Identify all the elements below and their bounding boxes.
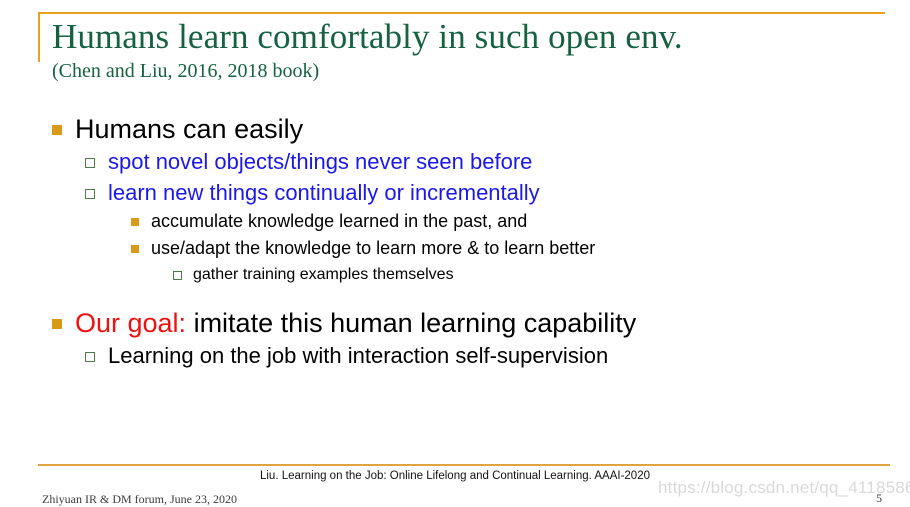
- top-gold-rule: [38, 12, 885, 14]
- our-goal-label: Our goal:: [75, 308, 186, 338]
- hollow-square-bullet-icon: [85, 189, 95, 199]
- bullet-level2-learning-on-the-job: Learning on the job with interaction sel…: [40, 340, 890, 371]
- square-bullet-icon: [52, 319, 62, 329]
- bullet-level3-use-adapt-knowledge: use/adapt the knowledge to learn more & …: [40, 235, 890, 262]
- bullet-level2-learn-new-things: learn new things continually or incremen…: [40, 177, 890, 208]
- hollow-square-bullet-icon: [85, 352, 95, 362]
- watermark-text: https://blog.csdn.net/qq_41185868: [658, 478, 910, 498]
- bullet-text: learn new things continually or incremen…: [108, 177, 540, 208]
- bullet-list: Humans can easily spot novel objects/thi…: [40, 112, 890, 371]
- bullet-text: gather training examples themselves: [193, 262, 454, 287]
- footer-gold-rule: [38, 464, 890, 466]
- hollow-square-bullet-icon: [173, 271, 182, 280]
- bullet-text: Humans can easily: [75, 112, 303, 146]
- left-gold-rule: [38, 12, 40, 62]
- slide: Humans learn comfortably in such open en…: [0, 0, 910, 507]
- slide-subtitle: (Chen and Liu, 2016, 2018 book): [52, 59, 892, 83]
- bullet-level1-our-goal: Our goal: imitate this human learning ca…: [40, 306, 890, 340]
- bullet-level2-spot-novel-objects: spot novel objects/things never seen bef…: [40, 146, 890, 177]
- bullet-text: spot novel objects/things never seen bef…: [108, 146, 532, 177]
- spacer: [40, 287, 890, 306]
- bullet-text: Our goal: imitate this human learning ca…: [75, 306, 636, 340]
- bullet-level1-humans-can-easily: Humans can easily: [40, 112, 890, 146]
- square-bullet-icon: [131, 218, 139, 226]
- square-bullet-icon: [131, 245, 139, 253]
- bullet-text: accumulate knowledge learned in the past…: [151, 208, 527, 235]
- bullet-level4-gather-training-examples: gather training examples themselves: [40, 262, 890, 287]
- footer-event-text: Zhiyuan IR & DM forum, June 23, 2020: [42, 492, 237, 507]
- square-bullet-icon: [52, 125, 62, 135]
- bullet-text: use/adapt the knowledge to learn more & …: [151, 235, 595, 262]
- bullet-text: Learning on the job with interaction sel…: [108, 340, 608, 371]
- title-block: Humans learn comfortably in such open en…: [52, 16, 892, 83]
- our-goal-rest: imitate this human learning capability: [186, 308, 636, 338]
- page-number: 5: [876, 491, 882, 506]
- hollow-square-bullet-icon: [85, 158, 95, 168]
- bullet-level3-accumulate-knowledge: accumulate knowledge learned in the past…: [40, 208, 890, 235]
- slide-title: Humans learn comfortably in such open en…: [52, 16, 892, 57]
